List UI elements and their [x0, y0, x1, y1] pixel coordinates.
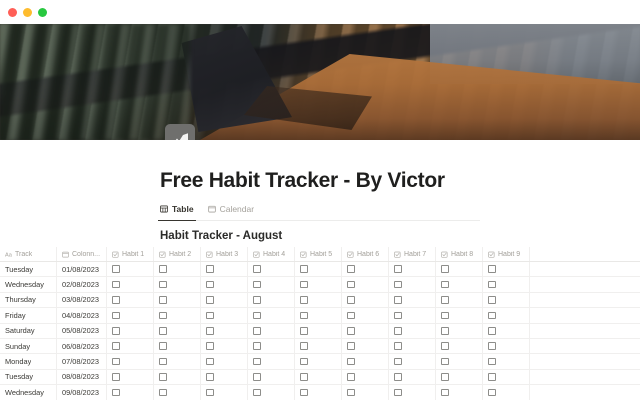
cell-track-text: Tuesday	[5, 372, 33, 381]
cell-track[interactable]: Sunday	[0, 339, 57, 353]
checkbox-icon	[206, 251, 213, 258]
column-header-date-label: Colonn...	[72, 251, 100, 258]
checkbox-icon[interactable]	[159, 389, 167, 397]
table-header-row: Aa Track Colonn... Habit 1	[0, 247, 640, 262]
cell-habit-2[interactable]	[154, 277, 201, 291]
cell-habit-8[interactable]	[436, 354, 483, 368]
checkbox-icon[interactable]	[300, 389, 308, 397]
column-header-track-label: Track	[15, 251, 32, 258]
title-text-icon: Aa	[5, 251, 12, 258]
checkbox-icon[interactable]	[300, 358, 308, 366]
cell-track[interactable]: Tuesday	[0, 262, 57, 276]
cell-date-text: 04/08/2023	[62, 311, 99, 320]
cell-track-text: Thursday	[5, 295, 36, 304]
cell-habit-6[interactable]	[342, 308, 389, 322]
cell-habit-6[interactable]	[342, 262, 389, 276]
checkbox-icon[interactable]	[394, 281, 402, 289]
cell-date[interactable]: 03/08/2023	[57, 293, 107, 307]
column-header-habit-2[interactable]: Habit 2	[154, 247, 201, 261]
cell-track-text: Monday	[5, 357, 31, 366]
cell-habit-5[interactable]	[295, 385, 342, 399]
cell-track-text: Friday	[5, 311, 26, 320]
cell-habit-7[interactable]	[389, 277, 436, 291]
checkbox-icon[interactable]	[488, 312, 496, 320]
column-header-habit-4[interactable]: Habit 4	[248, 247, 295, 261]
checkbox-icon[interactable]	[300, 312, 308, 320]
cell-habit-5[interactable]	[295, 293, 342, 307]
table-row[interactable]: Thursday03/08/2023	[0, 293, 640, 308]
checkbox-icon[interactable]	[441, 265, 449, 273]
cell-date[interactable]: 01/08/2023	[57, 262, 107, 276]
checkbox-icon[interactable]	[253, 342, 261, 350]
app-window: Free Habit Tracker - By Victor Table	[0, 0, 640, 400]
checkbox-icon[interactable]	[394, 327, 402, 335]
cell-habit-9[interactable]	[483, 354, 530, 368]
cell-habit-7[interactable]	[389, 339, 436, 353]
table-row[interactable]: Wednesday02/08/2023	[0, 277, 640, 292]
cell-date-text: 02/08/2023	[62, 280, 99, 289]
column-header-habit-1-label: Habit 1	[122, 251, 144, 258]
checkbox-icon[interactable]	[441, 389, 449, 397]
cell-habit-7[interactable]	[389, 324, 436, 338]
checkbox-icon[interactable]	[347, 389, 355, 397]
checkbox-icon[interactable]	[347, 342, 355, 350]
cell-date[interactable]: 05/08/2023	[57, 324, 107, 338]
cell-habit-1[interactable]	[107, 385, 154, 399]
checkbox-icon[interactable]	[253, 312, 261, 320]
checkbox-icon[interactable]	[488, 327, 496, 335]
column-header-habit-6-label: Habit 6	[357, 251, 379, 258]
chart-page-icon[interactable]	[165, 124, 195, 140]
cell-habit-9[interactable]	[483, 277, 530, 291]
checkbox-icon[interactable]	[488, 265, 496, 273]
cell-habit-3[interactable]	[201, 293, 248, 307]
cell-habit-1[interactable]	[107, 277, 154, 291]
cell-habit-2[interactable]	[154, 308, 201, 322]
cell-track-text: Sunday	[5, 342, 30, 351]
checkbox-icon[interactable]	[394, 296, 402, 304]
checkbox-icon	[112, 251, 119, 258]
checkbox-icon[interactable]	[112, 312, 120, 320]
table-row[interactable]: Friday04/08/2023	[0, 308, 640, 323]
checkbox-icon[interactable]	[206, 312, 214, 320]
cell-habit-4[interactable]	[248, 324, 295, 338]
checkbox-icon[interactable]	[159, 296, 167, 304]
cell-habit-3[interactable]	[201, 277, 248, 291]
cell-habit-5[interactable]	[295, 370, 342, 384]
column-header-habit-1[interactable]: Habit 1	[107, 247, 154, 261]
checkbox-icon[interactable]	[112, 281, 120, 289]
cell-habit-8[interactable]	[436, 262, 483, 276]
checkbox-icon[interactable]	[441, 296, 449, 304]
cell-track-text: Tuesday	[5, 265, 33, 274]
checkbox-icon[interactable]	[347, 373, 355, 381]
tab-table-label: Table	[172, 204, 194, 214]
cell-habit-7[interactable]	[389, 293, 436, 307]
checkbox-icon	[300, 251, 307, 258]
cell-habit-4[interactable]	[248, 385, 295, 399]
cell-date[interactable]: 09/08/2023	[57, 385, 107, 399]
checkbox-icon	[394, 251, 401, 258]
cell-habit-9[interactable]	[483, 370, 530, 384]
cell-habit-4[interactable]	[248, 277, 295, 291]
checkbox-icon	[488, 251, 495, 258]
cell-habit-3[interactable]	[201, 370, 248, 384]
cell-habit-9[interactable]	[483, 324, 530, 338]
cell-habit-5[interactable]	[295, 354, 342, 368]
checkbox-icon[interactable]	[394, 265, 402, 273]
cell-habit-9[interactable]	[483, 293, 530, 307]
column-header-habit-8[interactable]: Habit 8	[436, 247, 483, 261]
cell-habit-2[interactable]	[154, 370, 201, 384]
cell-habit-1[interactable]	[107, 324, 154, 338]
checkbox-icon[interactable]	[112, 327, 120, 335]
cell-habit-1[interactable]	[107, 339, 154, 353]
column-header-date[interactable]: Colonn...	[57, 247, 107, 261]
checkbox-icon[interactable]	[112, 342, 120, 350]
tab-table[interactable]: Table	[160, 204, 194, 217]
cell-habit-5[interactable]	[295, 308, 342, 322]
zoom-window-button[interactable]	[38, 8, 47, 17]
cell-habit-1[interactable]	[107, 262, 154, 276]
cell-track-text: Wednesday	[5, 388, 44, 397]
cell-habit-2[interactable]	[154, 354, 201, 368]
checkbox-icon[interactable]	[206, 373, 214, 381]
checkbox-icon[interactable]	[206, 342, 214, 350]
page-title: Free Habit Tracker - By Victor	[160, 168, 640, 194]
checkbox-icon[interactable]	[441, 327, 449, 335]
column-header-habit-3-label: Habit 3	[216, 251, 238, 258]
checkbox-icon[interactable]	[253, 265, 261, 273]
cell-track-text: Wednesday	[5, 280, 44, 289]
cell-habit-1[interactable]	[107, 293, 154, 307]
column-header-habit-5[interactable]: Habit 5	[295, 247, 342, 261]
column-header-track[interactable]: Aa Track	[0, 247, 57, 261]
cell-habit-6[interactable]	[342, 354, 389, 368]
checkbox-icon[interactable]	[253, 327, 261, 335]
column-header-habit-5-label: Habit 5	[310, 251, 332, 258]
cell-habit-9[interactable]	[483, 339, 530, 353]
checkbox-icon[interactable]	[441, 312, 449, 320]
minimize-window-button[interactable]	[23, 8, 32, 17]
column-header-habit-8-label: Habit 8	[451, 251, 473, 258]
table-row[interactable]: Tuesday01/08/2023	[0, 262, 640, 277]
table-body: Tuesday01/08/2023Wednesday02/08/2023Thur…	[0, 262, 640, 400]
cell-habit-4[interactable]	[248, 308, 295, 322]
traffic-lights	[8, 8, 47, 17]
column-header-habit-6[interactable]: Habit 6	[342, 247, 389, 261]
cell-habit-6[interactable]	[342, 277, 389, 291]
checkbox-icon[interactable]	[159, 281, 167, 289]
cell-habit-7[interactable]	[389, 385, 436, 399]
cover-plant	[0, 24, 190, 140]
svg-text:Aa: Aa	[5, 252, 12, 257]
cell-habit-8[interactable]	[436, 277, 483, 291]
cell-habit-5[interactable]	[295, 277, 342, 291]
page-content: Free Habit Tracker - By Victor Table	[0, 168, 640, 242]
cell-habit-8[interactable]	[436, 339, 483, 353]
table-row[interactable]: Wednesday09/08/2023	[0, 385, 640, 400]
cell-habit-2[interactable]	[154, 293, 201, 307]
checkbox-icon	[347, 251, 354, 258]
checkbox-icon[interactable]	[112, 389, 120, 397]
close-window-button[interactable]	[8, 8, 17, 17]
cell-habit-2[interactable]	[154, 324, 201, 338]
table-icon	[160, 205, 168, 213]
table-row[interactable]: Saturday05/08/2023	[0, 324, 640, 339]
cell-habit-2[interactable]	[154, 262, 201, 276]
column-header-habit-9[interactable]: Habit 9	[483, 247, 530, 261]
checkbox-icon[interactable]	[112, 265, 120, 273]
checkbox-icon[interactable]	[300, 373, 308, 381]
cell-date-text: 06/08/2023	[62, 342, 99, 351]
checkbox-icon[interactable]	[347, 296, 355, 304]
cell-track[interactable]: Monday	[0, 354, 57, 368]
checkbox-icon[interactable]	[347, 312, 355, 320]
cell-habit-5[interactable]	[295, 339, 342, 353]
checkbox-icon[interactable]	[441, 281, 449, 289]
window-titlebar	[0, 0, 640, 24]
checkbox-icon[interactable]	[441, 342, 449, 350]
checkbox-icon[interactable]	[394, 373, 402, 381]
checkbox-icon[interactable]	[206, 327, 214, 335]
cell-date-text: 05/08/2023	[62, 326, 99, 335]
checkbox-icon[interactable]	[488, 296, 496, 304]
cell-date[interactable]: 04/08/2023	[57, 308, 107, 322]
cell-date[interactable]: 06/08/2023	[57, 339, 107, 353]
cell-habit-5[interactable]	[295, 324, 342, 338]
checkbox-icon[interactable]	[206, 389, 214, 397]
checkbox-icon[interactable]	[206, 358, 214, 366]
checkbox-icon[interactable]	[112, 296, 120, 304]
checkbox-icon[interactable]	[159, 312, 167, 320]
cell-date-text: 01/08/2023	[62, 265, 99, 274]
checkbox-icon[interactable]	[488, 389, 496, 397]
table-row[interactable]: Sunday06/08/2023	[0, 339, 640, 354]
column-header-habit-9-label: Habit 9	[498, 251, 520, 258]
cell-date[interactable]: 07/08/2023	[57, 354, 107, 368]
page-body: Free Habit Tracker - By Victor Table	[0, 140, 640, 400]
checkbox-icon[interactable]	[300, 342, 308, 350]
cell-habit-4[interactable]	[248, 339, 295, 353]
checkbox-icon[interactable]	[206, 265, 214, 273]
cell-habit-6[interactable]	[342, 324, 389, 338]
cell-habit-2[interactable]	[154, 339, 201, 353]
checkbox-icon[interactable]	[488, 373, 496, 381]
cell-habit-8[interactable]	[436, 324, 483, 338]
cell-track[interactable]: Saturday	[0, 324, 57, 338]
cell-habit-8[interactable]	[436, 370, 483, 384]
cell-track[interactable]: Wednesday	[0, 277, 57, 291]
habit-table: Aa Track Colonn... Habit 1	[0, 247, 640, 400]
cell-habit-8[interactable]	[436, 385, 483, 399]
cell-habit-3[interactable]	[201, 339, 248, 353]
checkbox-icon[interactable]	[206, 296, 214, 304]
cell-track[interactable]: Tuesday	[0, 370, 57, 384]
cell-habit-5[interactable]	[295, 262, 342, 276]
cell-track[interactable]: Wednesday	[0, 385, 57, 399]
cell-habit-3[interactable]	[201, 324, 248, 338]
checkbox-icon[interactable]	[488, 358, 496, 366]
checkbox-icon[interactable]	[253, 281, 261, 289]
cell-habit-6[interactable]	[342, 385, 389, 399]
cell-date-text: 08/08/2023	[62, 372, 99, 381]
checkbox-icon[interactable]	[253, 373, 261, 381]
cell-habit-3[interactable]	[201, 308, 248, 322]
checkbox-icon[interactable]	[394, 312, 402, 320]
page-cover[interactable]	[0, 24, 640, 140]
cell-habit-4[interactable]	[248, 354, 295, 368]
checkbox-icon[interactable]	[253, 389, 261, 397]
checkbox-icon[interactable]	[159, 265, 167, 273]
cell-habit-1[interactable]	[107, 354, 154, 368]
checkbox-icon[interactable]	[347, 265, 355, 273]
checkbox-icon[interactable]	[206, 281, 214, 289]
cell-date[interactable]: 02/08/2023	[57, 277, 107, 291]
table-row[interactable]: Monday07/08/2023	[0, 354, 640, 369]
cell-date-text: 09/08/2023	[62, 388, 99, 397]
cell-habit-8[interactable]	[436, 293, 483, 307]
cell-habit-4[interactable]	[248, 293, 295, 307]
calendar-icon	[208, 205, 216, 213]
checkbox-icon[interactable]	[394, 358, 402, 366]
checkbox-icon[interactable]	[488, 281, 496, 289]
column-header-habit-2-label: Habit 2	[169, 251, 191, 258]
cell-date-text: 03/08/2023	[62, 295, 99, 304]
database-title: Habit Tracker - August	[160, 230, 640, 242]
checkbox-icon[interactable]	[253, 358, 261, 366]
checkbox-icon[interactable]	[394, 342, 402, 350]
cell-habit-9[interactable]	[483, 385, 530, 399]
cell-habit-1[interactable]	[107, 370, 154, 384]
cell-habit-4[interactable]	[248, 262, 295, 276]
cell-habit-8[interactable]	[436, 308, 483, 322]
cell-habit-7[interactable]	[389, 370, 436, 384]
column-header-habit-3[interactable]: Habit 3	[201, 247, 248, 261]
date-icon	[62, 251, 69, 258]
cell-habit-1[interactable]	[107, 308, 154, 322]
cell-habit-6[interactable]	[342, 339, 389, 353]
checkbox-icon	[159, 251, 166, 258]
checkbox-icon[interactable]	[300, 327, 308, 335]
checkbox-icon[interactable]	[159, 358, 167, 366]
cell-date-text: 07/08/2023	[62, 357, 99, 366]
checkbox-icon[interactable]	[394, 389, 402, 397]
cell-habit-3[interactable]	[201, 354, 248, 368]
checkbox-icon[interactable]	[300, 296, 308, 304]
cell-date[interactable]: 08/08/2023	[57, 370, 107, 384]
cell-habit-9[interactable]	[483, 308, 530, 322]
tab-calendar-label: Calendar	[220, 204, 255, 214]
tab-calendar[interactable]: Calendar	[208, 204, 255, 217]
cell-habit-3[interactable]	[201, 385, 248, 399]
column-header-habit-4-label: Habit 4	[263, 251, 285, 258]
checkbox-icon[interactable]	[159, 373, 167, 381]
cell-track-text: Saturday	[5, 326, 35, 335]
column-header-habit-7[interactable]: Habit 7	[389, 247, 436, 261]
checkbox-icon[interactable]	[441, 358, 449, 366]
cell-habit-2[interactable]	[154, 385, 201, 399]
checkbox-icon[interactable]	[441, 373, 449, 381]
checkbox-icon[interactable]	[347, 327, 355, 335]
table-row[interactable]: Tuesday08/08/2023	[0, 370, 640, 385]
cell-habit-7[interactable]	[389, 308, 436, 322]
checkbox-icon[interactable]	[300, 281, 308, 289]
checkbox-icon	[253, 251, 260, 258]
cell-habit-3[interactable]	[201, 262, 248, 276]
cell-habit-7[interactable]	[389, 354, 436, 368]
checkbox-icon[interactable]	[300, 265, 308, 273]
cell-track[interactable]: Friday	[0, 308, 57, 322]
checkbox-icon[interactable]	[488, 342, 496, 350]
checkbox-icon[interactable]	[347, 281, 355, 289]
cell-habit-4[interactable]	[248, 370, 295, 384]
checkbox-icon[interactable]	[253, 296, 261, 304]
cell-habit-6[interactable]	[342, 293, 389, 307]
checkbox-icon[interactable]	[112, 358, 120, 366]
cell-habit-6[interactable]	[342, 370, 389, 384]
cell-habit-7[interactable]	[389, 262, 436, 276]
checkbox-icon[interactable]	[159, 327, 167, 335]
view-tabs: Table Calendar	[160, 204, 480, 221]
checkbox-icon[interactable]	[159, 342, 167, 350]
checkbox-icon[interactable]	[112, 373, 120, 381]
column-header-habit-7-label: Habit 7	[404, 251, 426, 258]
checkbox-icon[interactable]	[347, 358, 355, 366]
cell-habit-9[interactable]	[483, 262, 530, 276]
checkbox-icon	[441, 251, 448, 258]
cell-track[interactable]: Thursday	[0, 293, 57, 307]
